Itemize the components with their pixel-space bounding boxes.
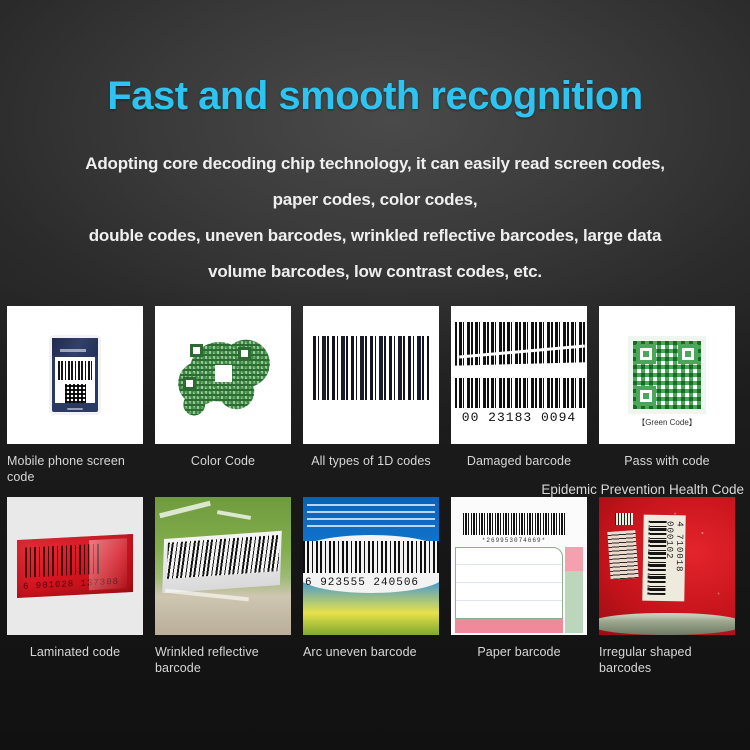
- card-1d-codes[interactable]: All types of 1D codes: [303, 306, 439, 485]
- thumbnail-irregular-barcode: 4 710018 000102: [599, 497, 735, 635]
- barcode-number: 00 23183 0094: [451, 410, 587, 425]
- card-caption: Paper barcode: [451, 644, 587, 660]
- blob-finder-right: [238, 347, 251, 360]
- description-line-4: volume barcodes, low contrast codes, etc…: [14, 254, 736, 290]
- curved-label-area: 6 923555 240506: [303, 535, 439, 593]
- thumbnail-1d-barcode: [303, 306, 439, 444]
- card-caption: Pass with code: [599, 453, 735, 469]
- card-row-1: Mobile phone screen code Color Code: [0, 306, 750, 485]
- qr-code-icon: [65, 384, 86, 403]
- red-laminated-label: 6 901028 137308: [17, 534, 133, 598]
- phone-screen-area: [55, 357, 95, 403]
- barcode-number: 4 710018 000102: [666, 521, 681, 595]
- qr-finder-top-left: [636, 344, 656, 364]
- thumbnail-color-code: [155, 306, 291, 444]
- card-caption: Laminated code: [7, 644, 143, 660]
- promo-page: Fast and smooth recognition Adopting cor…: [0, 0, 750, 750]
- can-base-rim: [599, 613, 735, 635]
- color-code-blob-icon: [175, 334, 271, 416]
- card-mobile-phone-screen-code[interactable]: Mobile phone screen code: [7, 306, 143, 485]
- card-caption: Mobile phone screen code: [7, 453, 143, 485]
- card-arc-uneven-barcode[interactable]: 6 923555 240506 Arc uneven barcode: [303, 497, 439, 676]
- blob-finder-left: [183, 377, 196, 390]
- thumbnail-paper-barcode: *269953074669*: [451, 497, 587, 635]
- health-qr-code-icon: [628, 336, 706, 414]
- card-caption: Color Code: [155, 453, 291, 469]
- barcode-icon: [463, 513, 565, 535]
- thumbnail-damaged-barcode: 00 23183 0094: [451, 306, 587, 444]
- page-title: Fast and smooth recognition: [0, 0, 750, 116]
- blob-center-hole: [215, 365, 232, 382]
- barcode-icon: [58, 361, 92, 380]
- description-line-3: double codes, uneven barcodes, wrinkled …: [14, 218, 736, 254]
- qr-finder-top-right: [678, 344, 698, 364]
- phone-device-icon: [52, 338, 98, 412]
- phone-title-line: [60, 349, 86, 352]
- description-block: Adopting core decoding chip technology, …: [0, 146, 750, 290]
- phone-home-indicator: [67, 408, 83, 410]
- card-caption: Damaged barcode: [451, 453, 587, 469]
- secondary-label: [607, 530, 638, 580]
- qr-sublabel: 【Green Code】: [599, 418, 735, 428]
- phone-header-bar: [52, 338, 98, 356]
- qr-finder-bottom-left: [636, 386, 656, 406]
- card-paper-barcode[interactable]: *269953074669* Paper barcode: [451, 497, 587, 676]
- thumbnail-phone-screen-code: [7, 306, 143, 444]
- card-color-code[interactable]: Color Code: [155, 306, 291, 485]
- thumbnail-arc-uneven-barcode: 6 923555 240506: [303, 497, 439, 635]
- package-print-text: [307, 501, 435, 527]
- barcode-icon: [303, 541, 439, 573]
- description-line-2: paper codes, color codes,: [14, 182, 736, 218]
- barcode-icon: [25, 544, 99, 578]
- card-damaged-barcode[interactable]: 00 23183 0094 Damaged barcode: [451, 306, 587, 485]
- description-line-1: Adopting core decoding chip technology, …: [14, 146, 736, 182]
- epidemic-health-code-banner: Epidemic Prevention Health Code: [541, 482, 744, 498]
- form-ruled-panel: [455, 547, 563, 619]
- blob-finder-top: [190, 344, 203, 357]
- card-row-2: 6 901028 137308 Laminated code W: [0, 497, 750, 676]
- paper-side-strip: [565, 547, 583, 633]
- lamination-glare: [89, 538, 127, 590]
- curved-can-label: 4 710018 000102: [642, 515, 685, 602]
- card-caption: Wrinkled reflective barcode: [155, 644, 291, 676]
- wrinkled-label: [162, 531, 282, 593]
- card-irregular-shaped-barcodes[interactable]: 4 710018 000102 Irregular shaped barcode…: [599, 497, 735, 676]
- card-caption: All types of 1D codes: [303, 453, 439, 469]
- form-footer-band: [455, 619, 563, 633]
- barcode-icon: [167, 535, 280, 579]
- card-laminated-code[interactable]: 6 901028 137308 Laminated code: [7, 497, 143, 676]
- barcode-icon: [313, 336, 429, 400]
- small-print-block: [615, 513, 633, 525]
- card-pass-with-code[interactable]: 【Green Code】 Pass with code: [599, 306, 735, 485]
- card-caption: Arc uneven barcode: [303, 644, 439, 660]
- card-caption: Irregular shaped barcodes: [599, 644, 735, 676]
- card-wrinkled-reflective-barcode[interactable]: Wrinkled reflective barcode: [155, 497, 291, 676]
- thumbnail-laminated-code: 6 901028 137308: [7, 497, 143, 635]
- thumbnail-green-health-qr: 【Green Code】: [599, 306, 735, 444]
- barcode-lower-segment: [455, 378, 587, 408]
- thumbnail-wrinkled-reflective: [155, 497, 291, 635]
- barcode-number: 6 923555 240506: [305, 577, 419, 589]
- barcode-number: *269953074669*: [463, 537, 565, 544]
